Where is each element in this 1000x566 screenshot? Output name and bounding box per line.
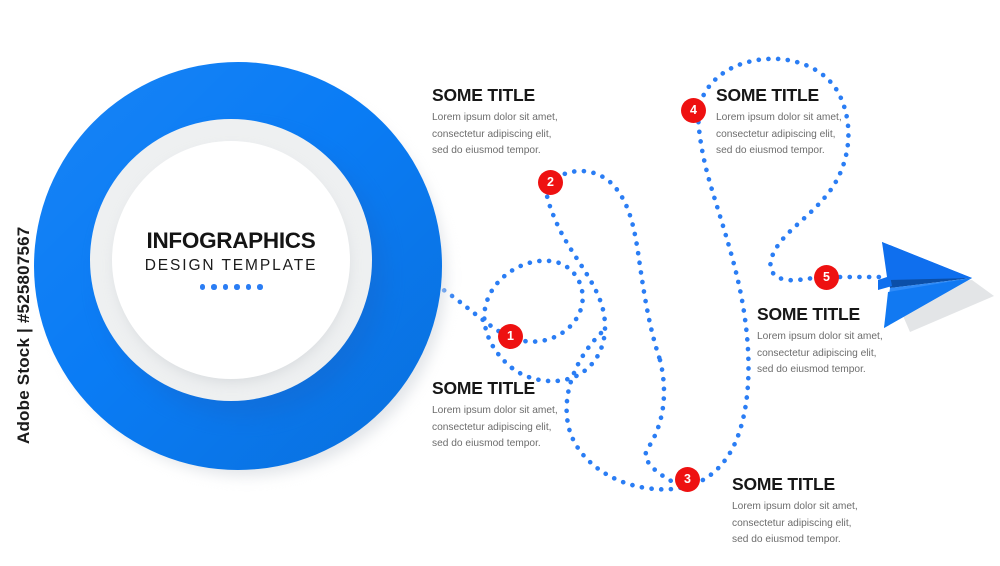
center-dot — [211, 284, 217, 290]
step-title-2: SOME TITLE — [432, 86, 572, 104]
step-block-1: SOME TITLE Lorem ipsum dolor sit amet, c… — [432, 379, 572, 453]
path-segment-loop-to-two — [512, 182, 605, 381]
path-segment-three-to-four — [694, 110, 749, 484]
step-body-line: sed do eiusmod tempor. — [757, 362, 902, 379]
plane-nose-notch — [878, 276, 892, 290]
step-marker-1[interactable]: 1 — [498, 324, 523, 349]
step-marker-2[interactable]: 2 — [538, 170, 563, 195]
circle-core: INFOGRAPHICS DESIGN TEMPLATE — [112, 141, 350, 379]
plane-body-top — [882, 242, 972, 284]
step-block-3: SOME TITLE Lorem ipsum dolor sit amet, c… — [732, 475, 877, 549]
center-dot — [257, 284, 263, 290]
center-dot — [234, 284, 240, 290]
center-dot — [246, 284, 252, 290]
center-dot-row — [200, 284, 263, 290]
path-segment-two-to-descent — [556, 171, 660, 360]
center-circle: INFOGRAPHICS DESIGN TEMPLATE — [34, 62, 450, 478]
step-body-4: Lorem ipsum dolor sit amet, consectetur … — [716, 110, 861, 160]
step-body-line: consectetur adipiscing elit, — [716, 127, 861, 144]
step-body-line: sed do eiusmod tempor. — [432, 143, 572, 160]
paper-plane-svg — [876, 240, 996, 340]
step-title-3: SOME TITLE — [732, 475, 877, 493]
step-body-line: sed do eiusmod tempor. — [732, 532, 877, 549]
center-title: INFOGRAPHICS — [147, 230, 316, 253]
step-body-line: Lorem ipsum dolor sit amet, — [432, 403, 572, 420]
step-body-line: sed do eiusmod tempor. — [432, 436, 572, 453]
step-body-line: Lorem ipsum dolor sit amet, — [732, 499, 877, 516]
step-body-line: consectetur adipiscing elit, — [732, 516, 877, 533]
step-marker-3[interactable]: 3 — [675, 467, 700, 492]
step-body-line: consectetur adipiscing elit, — [432, 420, 572, 437]
center-subtitle: DESIGN TEMPLATE — [145, 258, 318, 274]
watermark-label: Adobe Stock | #525807567 — [14, 214, 34, 444]
step-block-2: SOME TITLE Lorem ipsum dolor sit amet, c… — [432, 86, 572, 160]
step-body-3: Lorem ipsum dolor sit amet, consectetur … — [732, 499, 877, 549]
paper-plane-icon — [876, 240, 996, 340]
center-dot — [200, 284, 206, 290]
infographic-canvas: INFOGRAPHICS DESIGN TEMPLATE 1 2 3 4 5 S… — [0, 0, 1000, 566]
step-body-line: Lorem ipsum dolor sit amet, — [716, 110, 861, 127]
path-segment-start-loop — [436, 261, 583, 368]
step-body-2: Lorem ipsum dolor sit amet, consectetur … — [432, 110, 572, 160]
center-dot — [223, 284, 229, 290]
path-segment-bottom-u — [567, 333, 684, 489]
step-marker-5[interactable]: 5 — [814, 265, 839, 290]
step-body-line: Lorem ipsum dolor sit amet, — [432, 110, 572, 127]
step-title-4: SOME TITLE — [716, 86, 861, 104]
step-body-1: Lorem ipsum dolor sit amet, consectetur … — [432, 403, 572, 453]
adobe-stock-watermark: Adobe Stock | #525807567 — [0, 0, 34, 566]
step-marker-4[interactable]: 4 — [681, 98, 706, 123]
step-body-line: consectetur adipiscing elit, — [432, 127, 572, 144]
step-body-line: consectetur adipiscing elit, — [757, 346, 902, 363]
step-title-1: SOME TITLE — [432, 379, 572, 397]
step-body-line: sed do eiusmod tempor. — [716, 143, 861, 160]
step-block-4: SOME TITLE Lorem ipsum dolor sit amet, c… — [716, 86, 861, 160]
